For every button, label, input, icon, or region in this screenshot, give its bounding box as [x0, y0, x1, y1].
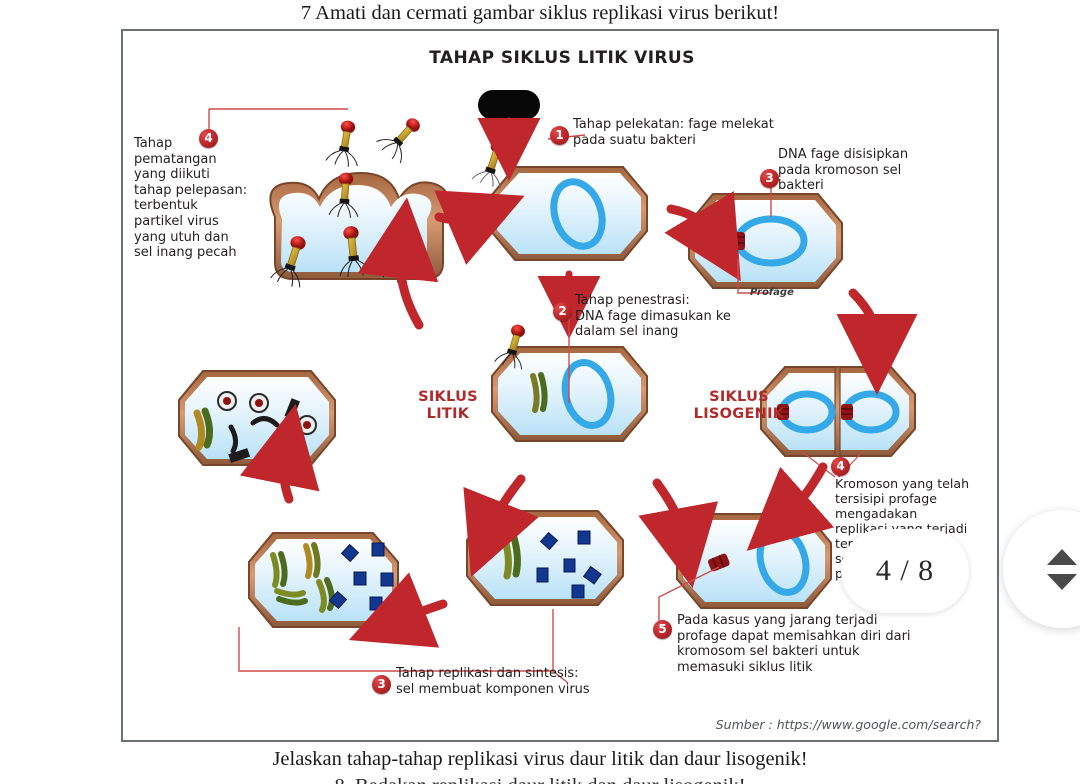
page-indicator: 4 / 8 — [841, 529, 969, 613]
question-below-clipped: 8. Bedakan replikasi daur litik dan daur… — [0, 775, 1080, 784]
cell-degradation — [179, 371, 335, 465]
cell-prophage-inserted — [689, 194, 842, 288]
step-caption-3-lysogenic: DNA fage disisipkan pada kromoson sel ba… — [778, 147, 948, 194]
step-badge-3-lysogenic: 3 — [760, 169, 779, 188]
step-caption-4-lytic: Tahap pematangan yang diikuti tahap pele… — [134, 136, 259, 261]
cell-attachment — [491, 167, 647, 260]
step-caption-2: Tahap penestrasi: DNA fage dimasukan ke … — [575, 293, 805, 340]
phage-source-blob — [478, 90, 540, 120]
virus-replication-figure: TAHAP SIKLUS LITIK VIRUS Sumber : https:… — [121, 29, 999, 742]
triangle-up-icon[interactable] — [1047, 549, 1077, 565]
step-badge-5-lysogenic: 5 — [653, 620, 672, 639]
label-siklus-lisogenik: SIKLUS LISOGENIK — [671, 389, 807, 423]
cell-lysis — [270, 172, 448, 289]
step-caption-1: Tahap pelekatan: fage melekat pada suatu… — [573, 117, 843, 148]
step-badge-1: 1 — [550, 126, 569, 145]
phage-free-2 — [375, 110, 429, 165]
label-siklus-litik: SIKLUS LITIK — [393, 389, 503, 423]
phage-free-1 — [325, 118, 364, 168]
cell-assembly — [249, 533, 398, 627]
label-profage: Profage — [750, 287, 794, 298]
step-badge-2: 2 — [553, 302, 572, 321]
step-badge-3-lytic: 3 — [372, 675, 391, 694]
step-caption-3-lytic: Tahap replikasi dan sintesis: sel membua… — [396, 666, 686, 697]
prophage-segment — [731, 232, 745, 250]
step-badge-4-lysogenic: 4 — [831, 457, 850, 476]
page-nav-control[interactable] — [1003, 510, 1080, 628]
step-caption-5-lysogenic: Pada kasus yang jarang terjadi profage d… — [677, 613, 977, 675]
question-below: Jelaskan tahap-tahap replikasi virus dau… — [0, 748, 1080, 771]
question-above: 7 Amati dan cermati gambar siklus replik… — [0, 2, 1080, 25]
triangle-down-icon[interactable] — [1047, 574, 1077, 590]
cell-prophage-excised — [677, 514, 831, 608]
